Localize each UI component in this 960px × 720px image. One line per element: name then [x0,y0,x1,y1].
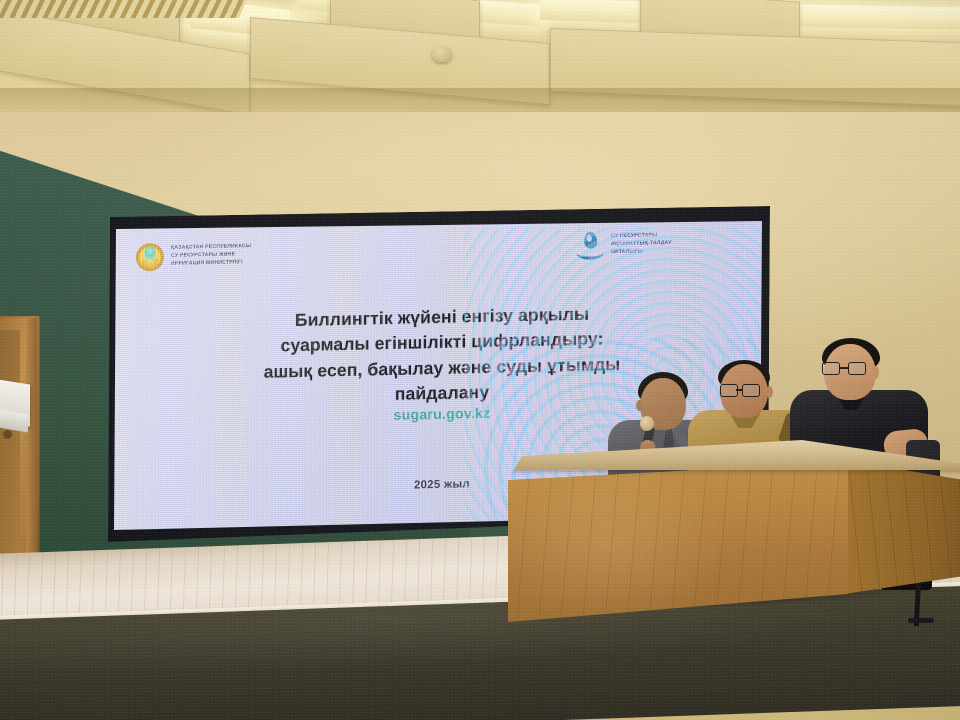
ceiling [0,0,960,118]
eyeglasses-icon [822,362,874,375]
photo-scene: ҚАЗАҚСТАН РЕСПУБЛИКАСЫ СУ РЕСУРСТАРЫ ЖӘН… [0,0,960,720]
door-trim [26,318,37,586]
side-door[interactable] [0,330,20,580]
speaker-1-ear [636,400,643,411]
table-top-surface [508,440,960,470]
door-knob-icon[interactable] [3,430,12,439]
microphone-windscreen-icon [640,416,654,431]
speaker-2-ear [766,386,773,398]
presidium-table[interactable] [504,440,960,630]
ceiling-light-panel [780,4,960,30]
ceiling-vent-grille [0,0,249,18]
table-side-panel [844,458,960,598]
smoke-detector-icon [432,46,452,62]
table-front-panel [508,462,848,630]
eyeglasses-icon [720,384,766,397]
